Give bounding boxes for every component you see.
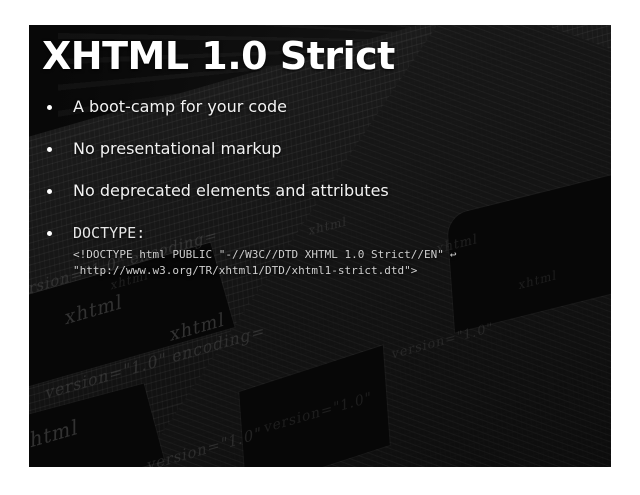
bullet-dot-icon	[47, 231, 52, 236]
slide-content: XHTML 1.0 Strict A boot-camp for your co…	[29, 25, 611, 467]
bullet-dot-icon	[47, 147, 52, 152]
doctype-code-block: <!DOCTYPE html PUBLIC "-//W3C//DTD XHTML…	[73, 247, 598, 279]
bullet-item-label: A boot-camp for your code	[73, 97, 287, 116]
bullet-item: No deprecated elements and attributes	[42, 181, 598, 201]
bullet-list: A boot-camp for your code No presentatio…	[42, 97, 598, 279]
bullet-item-doctype: DOCTYPE: <!DOCTYPE html PUBLIC "-//W3C//…	[42, 223, 598, 279]
presentation-slide: xhtml version="1.0" encoding= xhtml vers…	[29, 25, 611, 467]
doctype-code-line-1-text: <!DOCTYPE html PUBLIC "-//W3C//DTD XHTML…	[73, 248, 444, 261]
bullet-item-label: No presentational markup	[73, 139, 282, 158]
bullet-item: No presentational markup	[42, 139, 598, 159]
line-wrap-arrow-icon: ↩	[444, 248, 457, 261]
bullet-item-label: No deprecated elements and attributes	[73, 181, 389, 200]
bullet-item: A boot-camp for your code	[42, 97, 598, 117]
slide-title: XHTML 1.0 Strict	[42, 34, 395, 78]
bullet-dot-icon	[47, 189, 52, 194]
doctype-code-line-1: <!DOCTYPE html PUBLIC "-//W3C//DTD XHTML…	[73, 247, 598, 263]
doctype-label: DOCTYPE:	[73, 224, 145, 242]
bullet-dot-icon	[47, 105, 52, 110]
doctype-code-line-2: "http://www.w3.org/TR/xhtml1/DTD/xhtml1-…	[73, 263, 598, 279]
